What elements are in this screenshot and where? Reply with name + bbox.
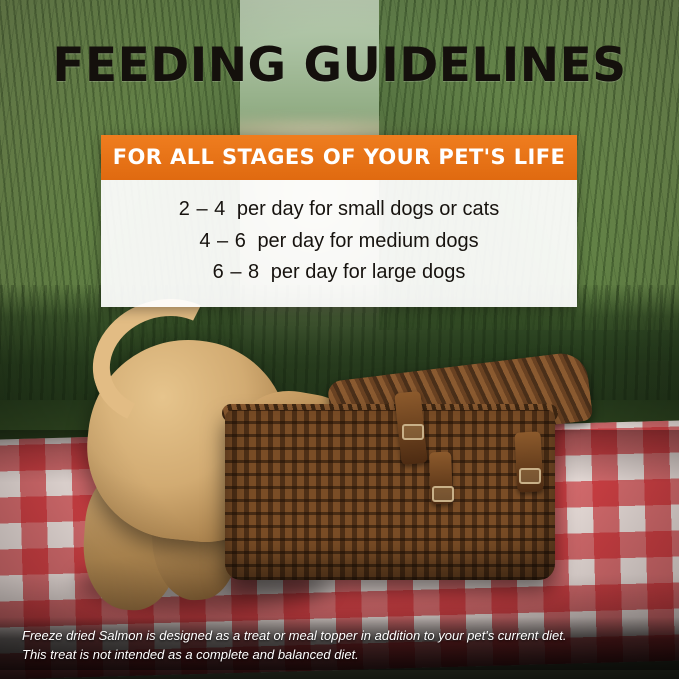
basket-buckle — [402, 424, 424, 440]
feeding-guidelines-card: FOR ALL STAGES OF YOUR PET'S LIFE 2 – 4 … — [101, 135, 577, 307]
feeding-row: 6 – 8 per day for large dogs — [101, 257, 577, 289]
page-title: FEEDING GUIDELINES — [0, 38, 679, 93]
feeding-amount: 2 – 4 — [179, 198, 226, 220]
basket-body — [225, 410, 555, 580]
feeding-description: per day for medium dogs — [257, 230, 478, 252]
product-lifestyle-image: FEEDING GUIDELINES FOR ALL STAGES OF YOU… — [0, 0, 679, 679]
feeding-amount: 4 – 6 — [199, 230, 246, 252]
feeding-row: 4 – 6 per day for medium dogs — [101, 226, 577, 258]
card-body: 2 – 4 per day for small dogs or cats 4 –… — [101, 180, 577, 307]
disclaimer-line-1: Freeze dried Salmon is designed as a tre… — [22, 627, 657, 646]
feeding-description: per day for small dogs or cats — [237, 198, 499, 220]
feeding-row: 2 – 4 per day for small dogs or cats — [101, 194, 577, 226]
card-header-banner: FOR ALL STAGES OF YOUR PET'S LIFE — [101, 135, 577, 180]
feeding-amount: 6 – 8 — [213, 261, 260, 283]
basket-buckle — [519, 468, 541, 484]
basket-buckle — [432, 486, 454, 502]
disclaimer-line-2: This treat is not intended as a complete… — [22, 646, 657, 665]
feeding-description: per day for large dogs — [271, 261, 466, 283]
disclaimer: Freeze dried Salmon is designed as a tre… — [0, 617, 679, 679]
